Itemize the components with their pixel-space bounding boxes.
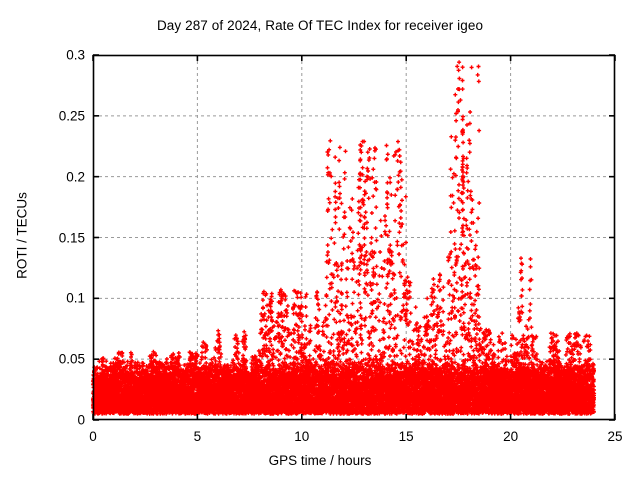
y-tick-label: 0 [30, 413, 85, 428]
data-points [91, 60, 596, 416]
x-tick-label: 5 [194, 429, 202, 444]
y-tick-label: 0.2 [30, 169, 85, 184]
x-tick-label: 0 [89, 429, 97, 444]
roti-scatter-plot: Day 287 of 2024, Rate Of TEC Index for r… [0, 0, 640, 480]
plot-canvas [0, 0, 640, 480]
x-tick-label: 25 [607, 429, 622, 444]
x-tick-label: 20 [503, 429, 518, 444]
y-tick-label: 0.25 [30, 108, 85, 123]
y-tick-label: 0.05 [30, 352, 85, 367]
data-point-marks [91, 60, 596, 416]
y-tick-label: 0.15 [30, 230, 85, 245]
x-tick-label: 10 [294, 429, 309, 444]
y-tick-label: 0.1 [30, 291, 85, 306]
y-tick-label: 0.3 [30, 48, 85, 63]
x-tick-label: 15 [399, 429, 414, 444]
